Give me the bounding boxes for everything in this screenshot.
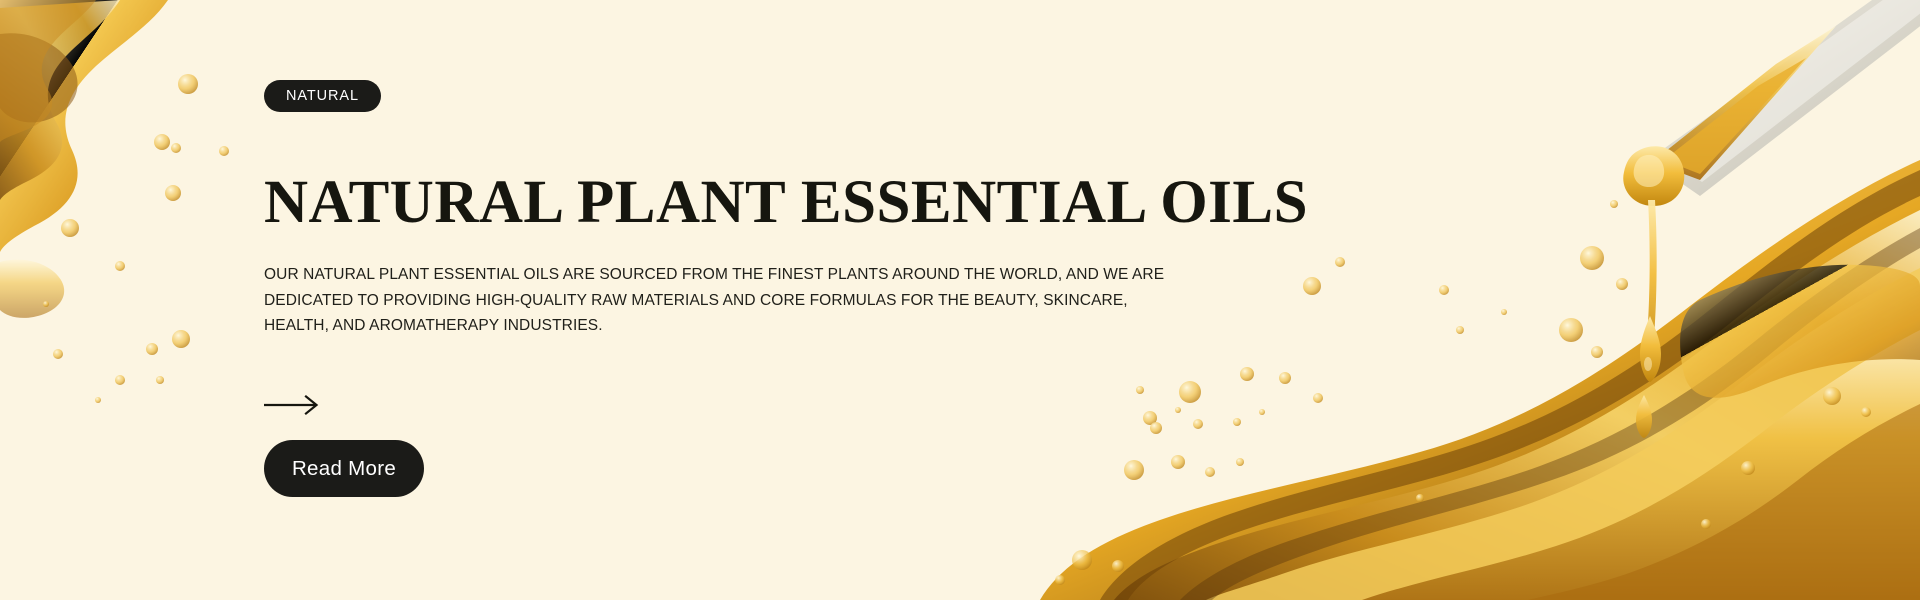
natural-badge: NATURAL	[264, 80, 381, 112]
hero-banner: NATURAL NATURAL PLANT ESSENTIAL OILS OUR…	[0, 0, 1920, 600]
glass-pipette-icon	[1623, 0, 1920, 438]
read-more-button[interactable]: Read More	[264, 440, 424, 497]
hero-description: OUR NATURAL PLANT ESSENTIAL OILS ARE SOU…	[264, 262, 1169, 339]
page-title: NATURAL PLANT ESSENTIAL OILS	[264, 172, 1308, 233]
hero-content: NATURAL NATURAL PLANT ESSENTIAL OILS OUR…	[264, 0, 1264, 600]
arrow-right-link[interactable]	[264, 392, 324, 418]
lower-right-oil-blob	[1680, 265, 1920, 398]
left-oil-swirl	[0, 0, 168, 318]
arrow-right-icon	[264, 392, 324, 418]
